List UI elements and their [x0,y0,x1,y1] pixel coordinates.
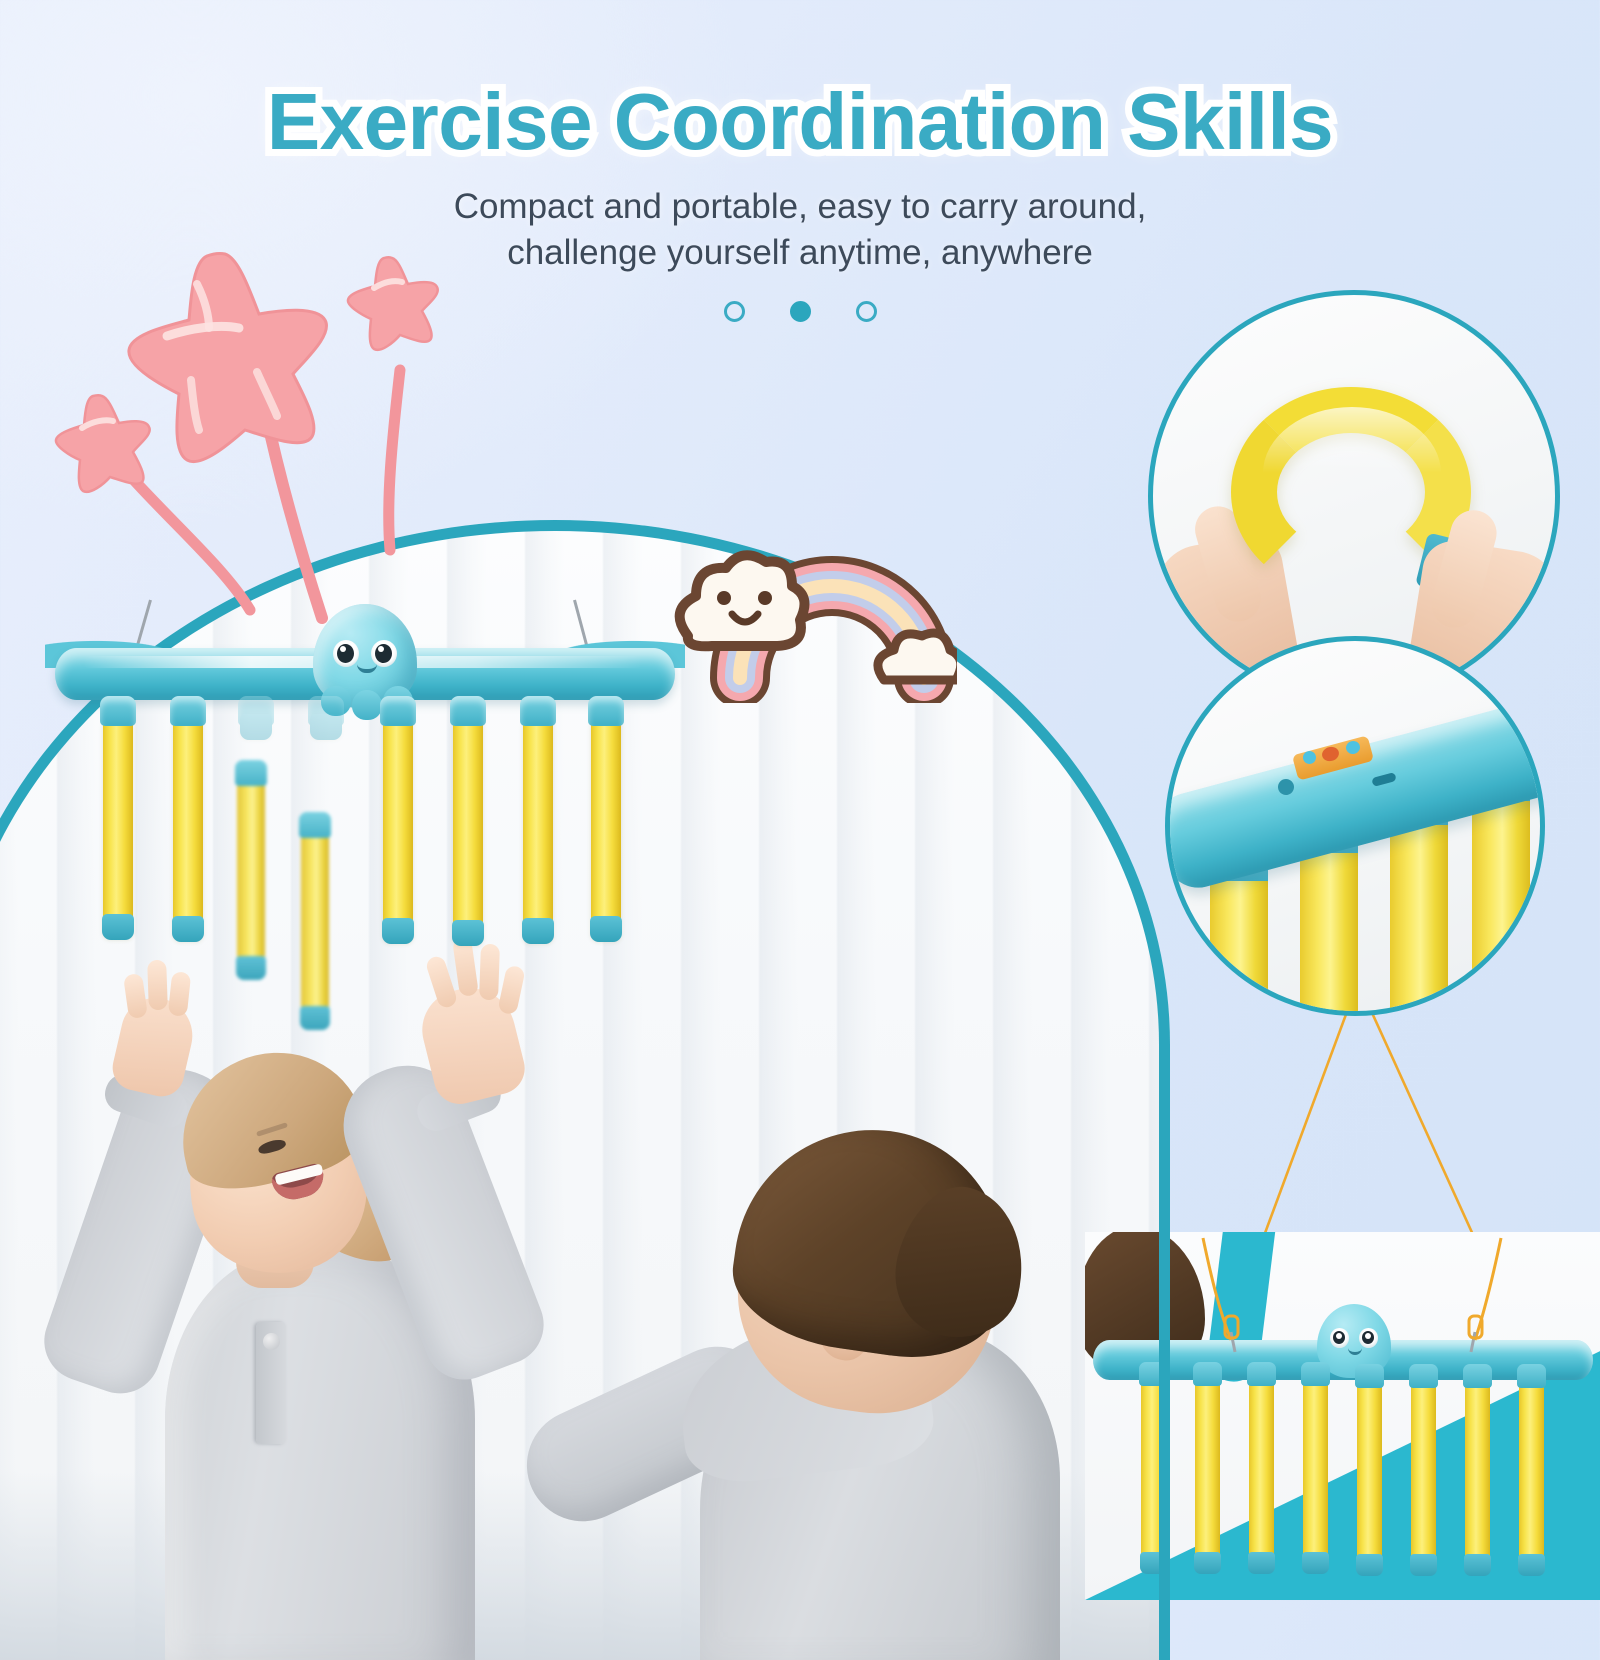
header: Exercise Coordination Skills Compact and… [0,0,1600,322]
subtitle-line-2: challenge yourself anytime, anywhere [0,230,1600,276]
pagination-dot-3[interactable] [856,301,877,322]
subtitle-line-1: Compact and portable, easy to carry arou… [0,184,1600,230]
pagination-dot-2[interactable] [790,301,811,322]
page-title: Exercise Coordination Skills [0,82,1600,162]
falling-stick-2 [301,832,329,1012]
falling-stick-1 [237,780,265,962]
rainbow-cloud-sticker [672,528,957,703]
product-full-view [1085,1232,1600,1600]
star-small-left [56,395,150,492]
page-subtitle: Compact and portable, easy to carry arou… [0,184,1600,275]
pagination-dot-1[interactable] [724,301,745,322]
pagination-dots [0,301,1600,322]
inset-control-panel [1165,636,1545,1016]
cloud-face [680,555,805,646]
boy-reaching [580,1130,1140,1660]
girl-reaching [60,1060,580,1660]
